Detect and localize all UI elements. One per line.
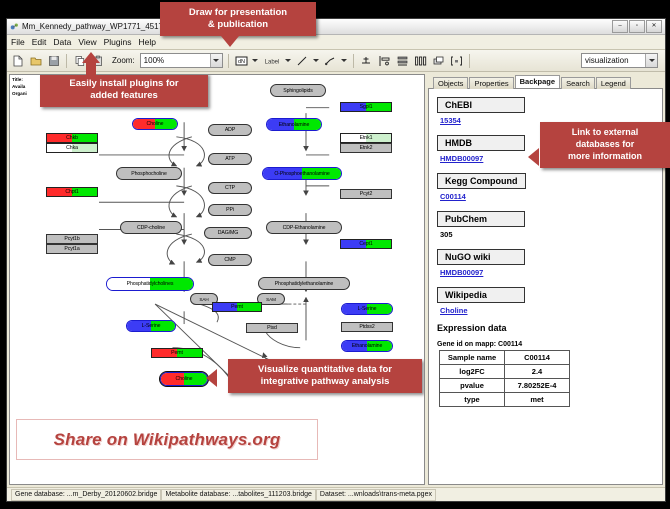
- toolbar-separator: [66, 54, 67, 68]
- expr-val-log2fc: 2.4: [505, 365, 570, 379]
- node-label: PPi: [226, 207, 234, 213]
- expression-data-heading: Expression data: [437, 323, 654, 333]
- expr-key-pvalue: pvalue: [440, 379, 505, 393]
- table-row: Sample name C00114: [440, 351, 570, 365]
- align-icon[interactable]: [377, 53, 392, 68]
- toolbar-separator: [353, 54, 354, 68]
- metabolite-node-ethanolamine[interactable]: Ethanolamine: [266, 118, 322, 131]
- tab-objects[interactable]: Objects: [433, 77, 468, 89]
- status-gene-database: Gene database: ...m_Derby_20120602.bridg…: [11, 489, 161, 501]
- minimize-button[interactable]: –: [612, 20, 628, 33]
- metabolite-node-ppi[interactable]: PPi: [208, 204, 252, 216]
- expr-val-pvalue: 7.80252E-4: [505, 379, 570, 393]
- chevron-down-icon[interactable]: [313, 53, 320, 68]
- callout-links: Link to external databases for more info…: [540, 122, 670, 168]
- db-header-pubchem: PubChem: [437, 211, 525, 227]
- callout-draw-text: Draw for presentation & publication: [189, 7, 287, 30]
- metabolite-node-phosphatidylethanolamine[interactable]: Phosphatidylethanolamine: [258, 277, 350, 290]
- menu-bar: File Edit Data View Plugins Help: [7, 35, 665, 50]
- chevron-down-icon[interactable]: [645, 54, 657, 67]
- data-node-icon[interactable]: dN: [234, 53, 249, 68]
- zoom-combo[interactable]: 100%: [140, 53, 223, 68]
- callout-visualize-arrow-icon: [206, 369, 217, 387]
- callout-visualize: Visualize quantitative data for integrat…: [228, 359, 422, 393]
- expr-val-sample-name: C00114: [505, 351, 570, 365]
- db-value-pubchem: 305: [440, 230, 654, 239]
- group-icon[interactable]: [449, 53, 464, 68]
- status-dataset: Dataset: ...wnloads\trans-meta.pgex: [316, 489, 436, 501]
- status-bar: Gene database: ...m_Derby_20120602.bridg…: [7, 487, 665, 501]
- maximize-button[interactable]: ▫: [629, 20, 645, 33]
- metabolite-node-atp[interactable]: ATP: [208, 153, 252, 165]
- callout-draw-arrow-icon: [221, 36, 239, 47]
- callout-share: Share on Wikipathways.org: [16, 419, 318, 460]
- node-label: Pisd: [267, 325, 277, 331]
- metabolite-node-l-serine[interactable]: L-Serine: [341, 303, 393, 315]
- node-label: Ethanolamine: [352, 343, 383, 349]
- anchor-icon[interactable]: [359, 53, 374, 68]
- screenshot-root: Mm_Kennedy_pathway_WP1771_45176.gpml - P…: [0, 0, 670, 509]
- gene-node-ptdss2[interactable]: Ptdss2: [341, 322, 393, 332]
- tab-properties[interactable]: Properties: [469, 77, 513, 89]
- metabolite-node-sphingolipids[interactable]: Sphingolipids: [270, 84, 326, 97]
- node-label: Phosphatidylcholines: [127, 281, 174, 287]
- label-icon[interactable]: Label: [262, 53, 282, 68]
- db-link-wikipedia[interactable]: Choline: [440, 306, 654, 315]
- node-label: SAH: [199, 297, 208, 302]
- save-icon[interactable]: [46, 53, 61, 68]
- chevron-down-icon[interactable]: [252, 53, 259, 68]
- metabolite-node-l-serine[interactable]: L-Serine: [126, 320, 176, 332]
- table-row: type met: [440, 393, 570, 407]
- node-label: DAG/MG: [218, 230, 238, 236]
- gene-node-pcyt2[interactable]: Pcyt2: [340, 189, 392, 199]
- visualization-combo[interactable]: visualization: [581, 53, 658, 68]
- node-label: Pemt: [171, 350, 183, 356]
- graphical-line-icon[interactable]: [323, 53, 338, 68]
- expr-val-type: met: [505, 393, 570, 407]
- db-header-chebi: ChEBI: [437, 97, 525, 113]
- gene-node-pisd[interactable]: Pisd: [246, 323, 298, 333]
- node-label: ATP: [225, 156, 234, 162]
- gene-node-etnk2[interactable]: Etnk2: [340, 143, 392, 153]
- node-label: Sphingolipids: [283, 88, 313, 94]
- gene-node-pcyt1b[interactable]: Pcyt1b: [46, 234, 98, 244]
- callout-plugins-arrow-icon: [82, 52, 100, 63]
- status-metabolite-database: Metabolite database: ...tabolites_111203…: [161, 489, 315, 501]
- node-label: Chkb: [66, 135, 78, 141]
- svg-text:dN: dN: [238, 59, 245, 65]
- node-label: Pcyt1a: [64, 246, 79, 252]
- node-label: L-Serine: [142, 323, 161, 329]
- pathvisio-icon: [10, 22, 19, 31]
- callout-plugins-text: Easily install plugins for added feature…: [69, 78, 178, 101]
- toolbar: Zoom: 100% dN Label: [7, 50, 665, 72]
- callout-share-text: Share on Wikipathways.org: [54, 430, 281, 450]
- table-row: pvalue 7.80252E-4: [440, 379, 570, 393]
- distribute-icon[interactable]: [413, 53, 428, 68]
- node-label: Sgpl1: [360, 104, 373, 110]
- line-icon[interactable]: [295, 53, 310, 68]
- chevron-down-icon[interactable]: [341, 53, 348, 68]
- node-label: Pemt: [231, 304, 243, 310]
- new-file-icon[interactable]: [10, 53, 25, 68]
- menu-item-plugins[interactable]: Plugins: [104, 37, 132, 47]
- gene-node-chkb[interactable]: Chkb: [46, 133, 98, 143]
- metabolite-node-cdp-choline[interactable]: CDP-choline: [120, 221, 182, 234]
- chevron-down-icon[interactable]: [210, 54, 222, 67]
- toolbar-separator: [228, 54, 229, 68]
- svg-text:Label: Label: [264, 59, 279, 65]
- db-link-nugo-wiki[interactable]: HMDB00097: [440, 268, 654, 277]
- expression-table: Sample name C00114 log2FC 2.4 pvalue 7.8…: [439, 350, 570, 407]
- node-label: CTP: [225, 185, 235, 191]
- menu-item-file[interactable]: File: [11, 37, 25, 47]
- node-label: L-Serine: [358, 306, 377, 312]
- node-label: Phosphocholine: [131, 171, 167, 177]
- table-row: log2FC 2.4: [440, 365, 570, 379]
- metabolite-node-ethanolamine[interactable]: Ethanolamine: [341, 340, 393, 352]
- gene-node-pemt[interactable]: Pemt: [212, 302, 262, 312]
- metabolite-node-choline[interactable]: Choline: [160, 372, 208, 386]
- menu-item-help[interactable]: Help: [139, 37, 156, 47]
- metabolite-node-adp[interactable]: ADP: [208, 124, 252, 136]
- node-label: CDP-Ethanolamine: [283, 225, 326, 231]
- close-button[interactable]: ✕: [646, 20, 662, 33]
- gene-node-etnk1[interactable]: Etnk1: [340, 133, 392, 143]
- menu-item-view[interactable]: View: [78, 37, 96, 47]
- gene-id-on-mapp: Gene id on mapp: C00114: [437, 341, 654, 348]
- toolbar-separator: [469, 54, 470, 68]
- gene-node-sgpl1[interactable]: Sgpl1: [340, 102, 392, 112]
- expr-key-log2fc: log2FC: [440, 365, 505, 379]
- db-link-kegg-compound[interactable]: C00114: [440, 192, 654, 201]
- menu-item-data[interactable]: Data: [53, 37, 71, 47]
- gene-node-cept1[interactable]: Cept1: [340, 239, 392, 249]
- gene-node-pemt[interactable]: Pemt: [151, 348, 203, 358]
- node-label: Pcyt2: [360, 191, 372, 197]
- callout-plugins: Easily install plugins for added feature…: [40, 74, 208, 107]
- zoom-label: Zoom:: [112, 56, 135, 65]
- node-label: Choline: [147, 121, 164, 127]
- zoom-value: 100%: [144, 56, 164, 65]
- callout-links-arrow-icon: [528, 148, 539, 166]
- node-label: Chpt1: [65, 189, 78, 195]
- callout-links-text: Link to external databases for more info…: [568, 127, 642, 161]
- chevron-down-icon[interactable]: [285, 53, 292, 68]
- tab-legend[interactable]: Legend: [596, 77, 631, 89]
- tab-search[interactable]: Search: [561, 77, 595, 89]
- side-panel-tabs: Objects Properties Backpage Search Legen…: [428, 74, 663, 89]
- metabolite-node-ctp[interactable]: CTP: [208, 182, 252, 194]
- db-header-nugo-wiki: NuGO wiki: [437, 249, 525, 265]
- metabolite-node-dag-mg[interactable]: DAG/MG: [204, 227, 252, 239]
- node-label: Ptdss2: [359, 324, 374, 330]
- metabolite-node-cdp-ethanolamine[interactable]: CDP-Ethanolamine: [266, 221, 342, 234]
- node-label: Ethanolamine: [279, 122, 310, 128]
- metabolite-node-phosphocholine[interactable]: Phosphocholine: [116, 167, 182, 180]
- node-label: Chka: [66, 145, 78, 151]
- metabolite-node-cmp[interactable]: CMP: [208, 254, 252, 266]
- metabolite-node-o-phosphoethanolamine[interactable]: O-Phosphoethanolamine: [262, 167, 342, 180]
- node-label: Cept1: [359, 241, 372, 247]
- open-folder-icon[interactable]: [28, 53, 43, 68]
- node-label: Etnk2: [360, 145, 373, 151]
- node-label: ADP: [225, 127, 235, 133]
- gene-node-chpt1[interactable]: Chpt1: [46, 187, 98, 197]
- window-title-bar: Mm_Kennedy_pathway_WP1771_45176.gpml - P…: [7, 19, 665, 35]
- expr-key-sample-name: Sample name: [440, 351, 505, 365]
- node-label: Pcyt1b: [64, 236, 79, 242]
- menu-item-edit[interactable]: Edit: [32, 37, 47, 47]
- node-label: CDP-choline: [137, 225, 165, 231]
- callout-draw: Draw for presentation & publication: [160, 2, 316, 36]
- expr-key-type: type: [440, 393, 505, 407]
- visualization-value: visualization: [585, 56, 629, 65]
- node-label: O-Phosphoethanolamine: [274, 171, 329, 177]
- stack-icon[interactable]: [395, 53, 410, 68]
- callout-visualize-text: Visualize quantitative data for integrat…: [258, 364, 392, 387]
- node-label: CMP: [224, 257, 235, 263]
- node-label: Choline: [176, 376, 193, 382]
- metabolite-node-phosphatidylcholines[interactable]: Phosphatidylcholines: [106, 277, 194, 291]
- node-label: SAM: [266, 297, 276, 302]
- gene-node-pcyt1a[interactable]: Pcyt1a: [46, 244, 98, 254]
- order-icon[interactable]: [431, 53, 446, 68]
- db-header-hmdb: HMDB: [437, 135, 525, 151]
- metabolite-node-choline[interactable]: Choline: [132, 118, 178, 130]
- node-label: Etnk1: [360, 135, 373, 141]
- tab-backpage[interactable]: Backpage: [515, 75, 560, 88]
- node-label: Phosphatidylethanolamine: [275, 281, 333, 287]
- db-header-wikipedia: Wikipedia: [437, 287, 525, 303]
- gene-node-chka[interactable]: Chka: [46, 143, 98, 153]
- db-header-kegg-compound: Kegg Compound: [437, 173, 526, 189]
